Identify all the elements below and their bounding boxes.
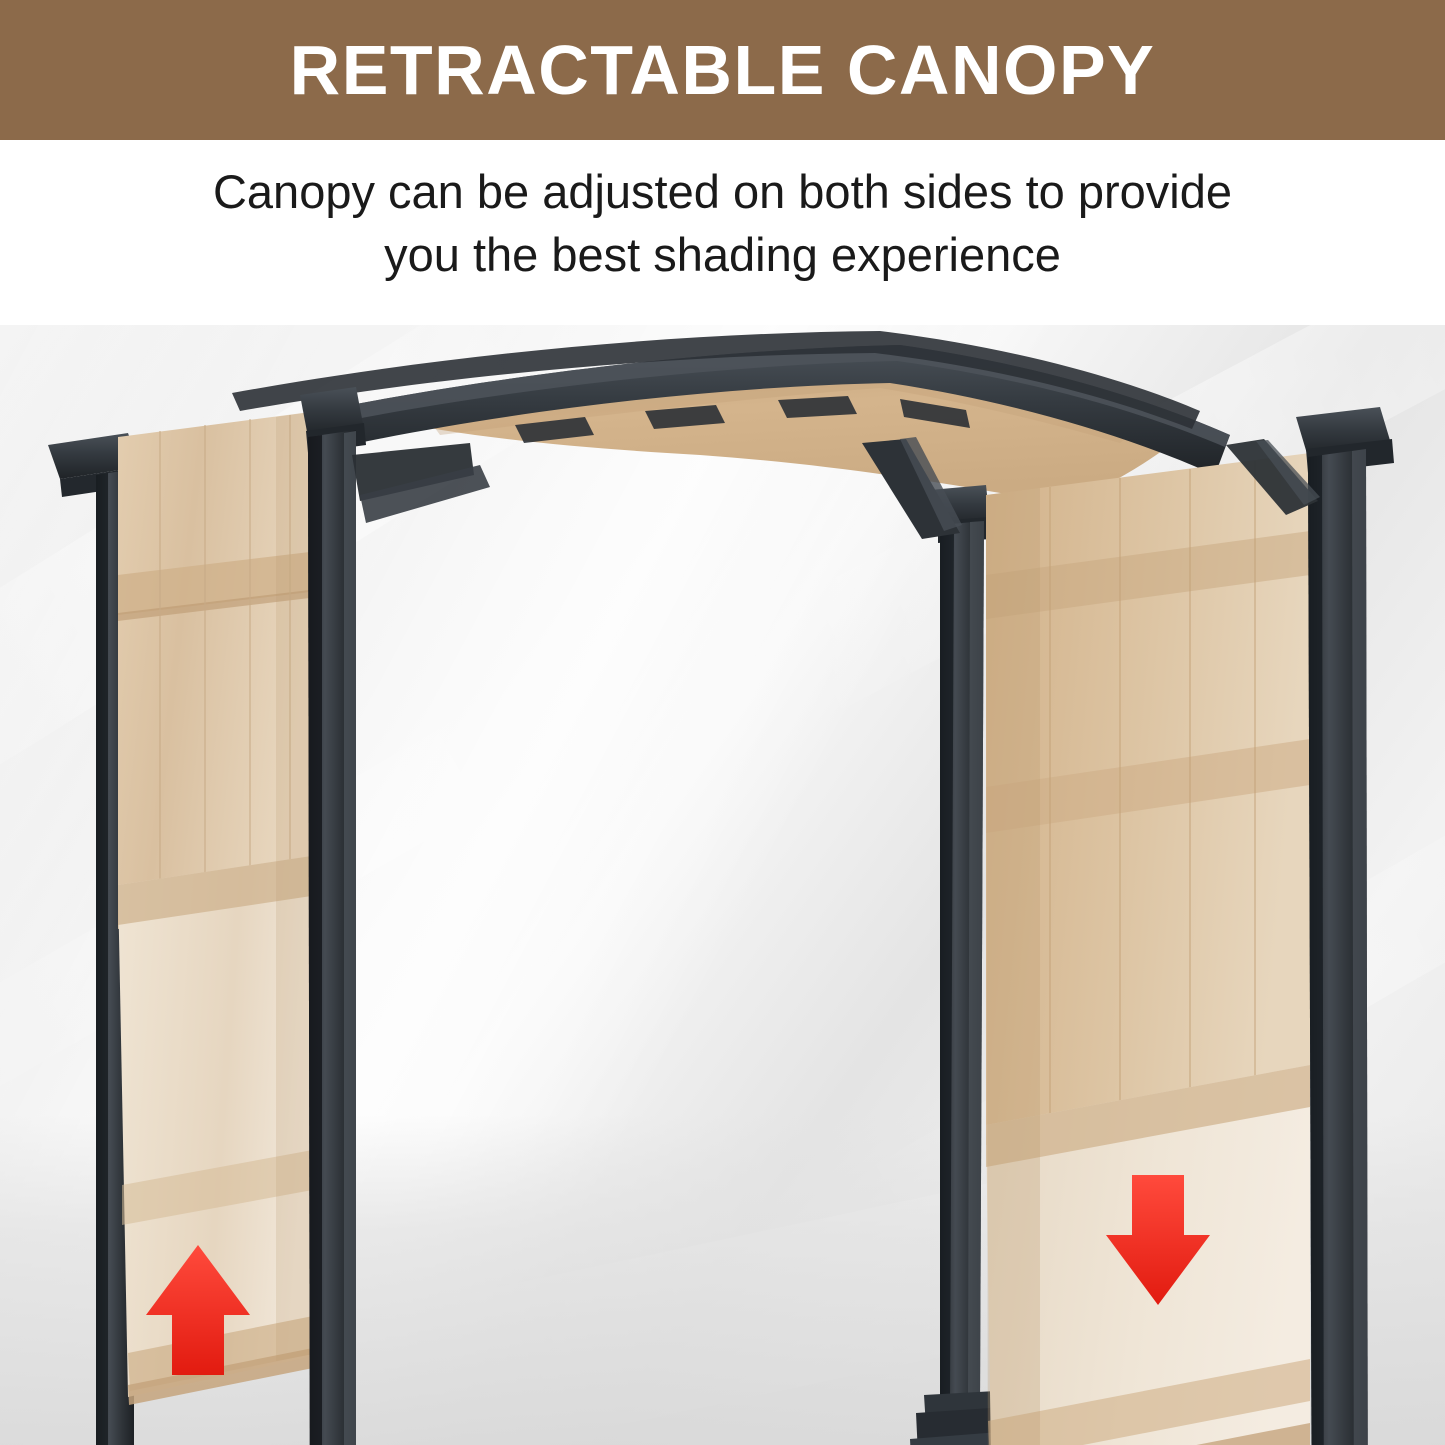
page-title: RETRACTABLE CANOPY [290,35,1156,105]
subtitle-text: Canopy can be adjusted on both sides to … [0,160,1445,287]
subtitle-line-1: Canopy can be adjusted on both sides to … [213,165,1232,218]
pergola-illustration [0,325,1445,1445]
product-feature-card: RETRACTABLE CANOPY Canopy can be adjuste… [0,0,1445,1445]
header-banner: RETRACTABLE CANOPY [0,0,1445,140]
product-photo [0,325,1445,1445]
subtitle-line-2: you the best shading experience [80,223,1365,286]
